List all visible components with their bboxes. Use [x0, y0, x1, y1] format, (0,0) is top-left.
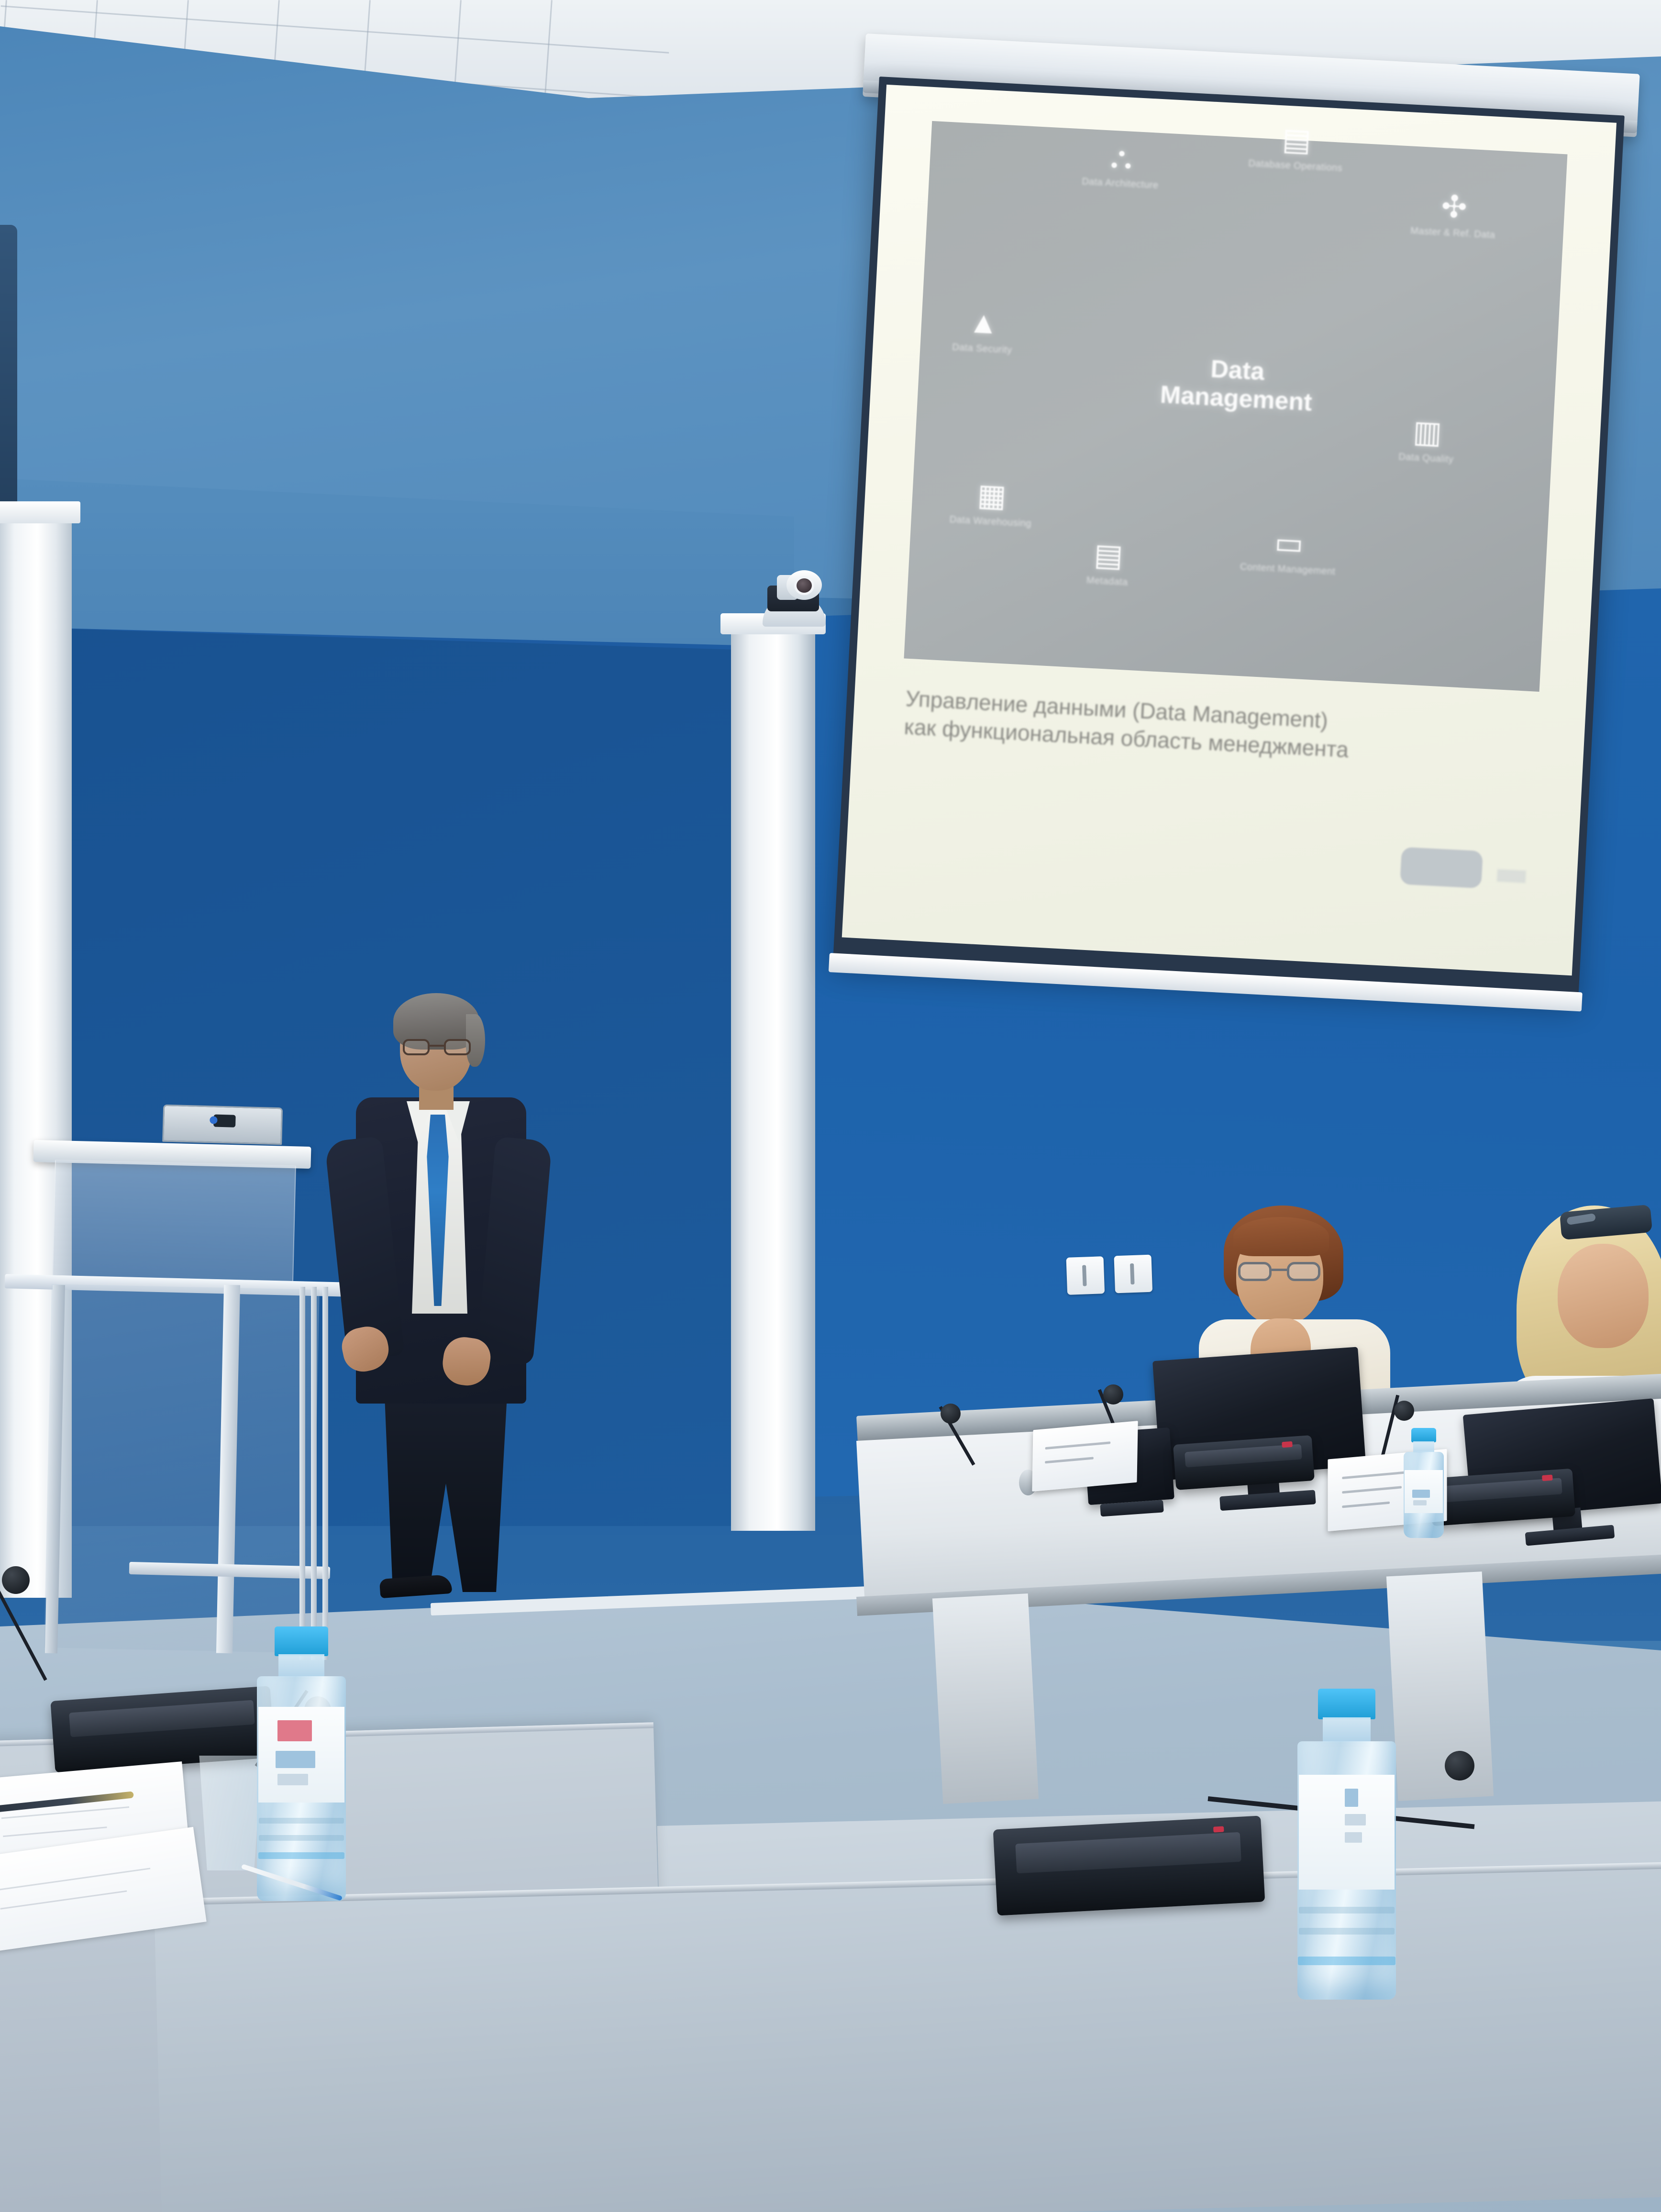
- bar-chart-up-icon: ▥: [1412, 416, 1443, 448]
- water-bottle-panel[interactable]: [1402, 1428, 1446, 1538]
- screen-border: Data Management ⛬ Data Architecture ▤ Da…: [833, 77, 1624, 997]
- slide-icon-bar-chart-up: ▥ Data Quality: [1398, 415, 1456, 465]
- column-center: [731, 631, 815, 1531]
- bottle-ridge: [1299, 1928, 1395, 1935]
- monitor-base: [1219, 1490, 1316, 1511]
- mic-capsule-icon: [1394, 1401, 1414, 1421]
- bottle-neck: [278, 1654, 324, 1677]
- bottle-neck: [1323, 1717, 1371, 1742]
- slide-icon-network: ✣ Master & Ref. Data: [1410, 189, 1497, 241]
- name-card-line: [1342, 1486, 1402, 1493]
- bar-chart-icon: ▦: [976, 479, 1007, 511]
- wall-speaker: [0, 225, 17, 512]
- panelist-1-fringe: [1233, 1217, 1329, 1256]
- console-status-led-icon: [1282, 1441, 1293, 1448]
- slide-icon-label-4: Data Quality: [1398, 452, 1454, 465]
- mic-capsule-icon: [1445, 1751, 1474, 1781]
- slide-center-title: Data Management: [1149, 352, 1324, 418]
- mic-capsule-icon: [1103, 1384, 1123, 1405]
- water-bottle-right[interactable]: [1292, 1689, 1402, 2004]
- slide-badge-note: [1497, 869, 1526, 883]
- bottle-ridge: [1299, 1907, 1395, 1913]
- slide-icon-org-chart: ⛬ Data Architecture: [1082, 140, 1161, 191]
- projection-screen: Data Management ⛬ Data Architecture ▤ Da…: [832, 77, 1625, 1018]
- ptz-conference-camera: [750, 564, 841, 640]
- database-stack-icon: ▤: [1282, 123, 1312, 155]
- org-chart-icon: ⛬: [1110, 141, 1133, 173]
- label-graphic: [1412, 1490, 1430, 1497]
- lectern-front-panel: [52, 1160, 296, 1282]
- label-graphic: [1345, 1789, 1358, 1807]
- conference-console-1[interactable]: [1173, 1435, 1315, 1490]
- wall-light-switches[interactable]: [1066, 1254, 1173, 1301]
- wall-switch-1[interactable]: [1066, 1256, 1105, 1295]
- console-status-led-icon: [1542, 1475, 1553, 1482]
- mic-capsule-icon: [2, 1566, 30, 1594]
- document-icon: ▭: [1274, 527, 1305, 559]
- water-bottle-left[interactable]: [254, 1626, 349, 1904]
- bottle-ridge: [1298, 1957, 1395, 1965]
- name-card-1: [1032, 1421, 1138, 1492]
- slide-caption: Управление данными (Data Management) как…: [903, 684, 1534, 774]
- paper-rule: [3, 1826, 107, 1837]
- switch-rocker-icon: [1130, 1263, 1135, 1284]
- camera-lens-icon: [794, 576, 814, 595]
- name-card-line: [1342, 1502, 1390, 1508]
- bottle-cap: [275, 1626, 328, 1656]
- slide-icon-database: ▤ Database Operations: [1248, 122, 1345, 174]
- bottle-label: [258, 1707, 344, 1803]
- slide-icon-label-0: Data Architecture: [1082, 176, 1159, 191]
- glasses-bridge: [430, 1045, 444, 1047]
- sunglasses-shine: [1566, 1213, 1596, 1225]
- bottle-ridge: [258, 1852, 344, 1859]
- name-card-line: [1045, 1457, 1094, 1463]
- presenter-glasses-icon: [403, 1039, 471, 1055]
- switch-rocker-icon: [1082, 1265, 1087, 1286]
- mic-capsule-icon: [941, 1404, 961, 1424]
- slide-icon-label-5: Data Warehousing: [949, 514, 1031, 530]
- conference-room-photo: Data Management ⛬ Data Architecture ▤ Da…: [0, 0, 1661, 2212]
- slide-icon-label-2: Master & Ref. Data: [1410, 226, 1495, 241]
- layers-icon: ▤: [1093, 539, 1124, 571]
- slide-icon-label-3: Data Security: [952, 342, 1012, 356]
- paper-rule: [0, 1868, 150, 1891]
- slide-center-title-line1: Data: [1210, 355, 1265, 386]
- bottle-label: [1299, 1775, 1395, 1890]
- lock-security-icon: ▲: [967, 306, 999, 338]
- bottle-cap: [1411, 1428, 1436, 1442]
- glasses-lens-right: [1287, 1262, 1320, 1281]
- bottle-label: [1405, 1470, 1443, 1513]
- bottle-ridge: [259, 1818, 344, 1824]
- console-speaker-grill: [1185, 1444, 1302, 1468]
- network-nodes-icon: ✣: [1440, 191, 1468, 223]
- presenter-speaker: [330, 995, 560, 1588]
- slide-subcaption: [898, 838, 1322, 860]
- slide-content: Data Management ⛬ Data Architecture ▤ Da…: [842, 85, 1617, 976]
- slide-icon-label-6: Metadata: [1086, 575, 1128, 588]
- slide-badge: [1400, 847, 1484, 888]
- label-graphic: [1345, 1814, 1366, 1825]
- slide-icon-bar-chart: ▦ Data Warehousing: [949, 478, 1033, 530]
- panelist-2-head: [1558, 1244, 1649, 1348]
- slide-icon-document: ▭ Content Management: [1240, 525, 1337, 577]
- glasses-lens-left: [1238, 1262, 1272, 1281]
- bottle-cap: [1318, 1689, 1375, 1719]
- console-speaker-grill: [1441, 1478, 1562, 1502]
- lectern-legs: [297, 1287, 335, 1660]
- wall-switch-2[interactable]: [1114, 1255, 1152, 1294]
- glasses-lens-right: [444, 1039, 471, 1055]
- glasses-bridge: [1272, 1269, 1287, 1271]
- foreground-table-right: [154, 1861, 1661, 2212]
- label-graphic-red: [277, 1720, 312, 1741]
- glasses-lens-left: [403, 1039, 430, 1055]
- panel-desk-leg-left: [932, 1593, 1039, 1804]
- panelist-1-glasses-icon: [1238, 1262, 1320, 1281]
- slide-icon-layers: ▤ Metadata: [1086, 539, 1130, 588]
- slide-icon-label-1: Database Operations: [1248, 158, 1343, 174]
- paper-rule: [0, 1891, 127, 1910]
- column-left-capital: [0, 501, 80, 523]
- foreground-microphone-left: [14, 1559, 100, 1703]
- slide-icon-label-7: Content Management: [1240, 562, 1335, 577]
- bottle-ridge: [259, 1835, 344, 1841]
- name-card-line: [1045, 1442, 1110, 1450]
- conference-console-2[interactable]: [1429, 1469, 1575, 1526]
- label-graphic-blue-2: [277, 1774, 309, 1785]
- label-graphic: [1413, 1500, 1427, 1505]
- label-graphic: [1345, 1832, 1362, 1843]
- slide-icon-lock: ▲ Data Security: [952, 306, 1014, 356]
- slide-center-title-line2: Management: [1160, 381, 1313, 417]
- bottle-neck: [1413, 1441, 1434, 1453]
- label-graphic-blue: [276, 1751, 315, 1768]
- slide-hero-panel: Data Management ⛬ Data Architecture ▤ Da…: [904, 121, 1567, 692]
- presenter-legs: [376, 1391, 516, 1592]
- panel-microphone-3: [942, 1392, 1019, 1488]
